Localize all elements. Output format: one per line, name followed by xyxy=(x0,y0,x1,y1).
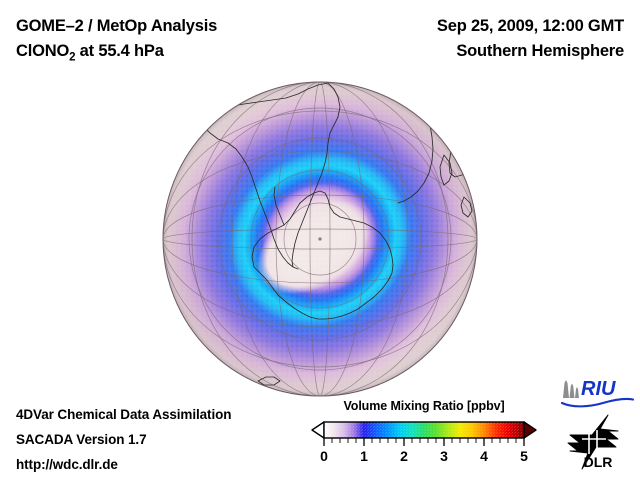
species-name: ClONO xyxy=(16,42,69,60)
colorbar-dither xyxy=(324,422,524,438)
colorbar-title: Volume Mixing Ratio [ppbv] xyxy=(308,399,540,413)
method-label: 4DVar Chemical Data Assimilation xyxy=(16,402,231,427)
map-panel xyxy=(162,81,478,397)
riu-wordmark: RIU xyxy=(581,378,616,400)
dlr-wordmark: DLR xyxy=(584,454,613,470)
species-level-title: ClONO2 at 55.4 hPa xyxy=(16,39,217,70)
globe-orthographic-projection xyxy=(162,81,478,397)
analysis-title: GOME–2 / MetOp Analysis xyxy=(16,14,217,39)
colorbar: Volume Mixing Ratio [ppbv] xyxy=(308,399,540,471)
colorbar-tick-4: 4 xyxy=(480,448,488,464)
timestamp: Sep 25, 2009, 12:00 GMT xyxy=(437,14,624,39)
colorbar-tick-0: 0 xyxy=(320,448,328,464)
colorbar-tick-3: 3 xyxy=(440,448,448,464)
pressure-level: at 55.4 hPa xyxy=(75,42,163,60)
riu-towers-icon xyxy=(563,380,579,398)
colorbar-tick-1: 1 xyxy=(360,448,368,464)
colorbar-tick-2: 2 xyxy=(400,448,408,464)
riu-logo: RIU xyxy=(559,374,635,408)
riu-wave-icon xyxy=(562,399,633,406)
south-pole-marker xyxy=(318,237,321,240)
riu-logo-svg: RIU xyxy=(559,374,635,408)
colorbar-tick-5: 5 xyxy=(520,448,528,464)
footer-left: 4DVar Chemical Data Assimilation SACADA … xyxy=(16,402,231,477)
colorbar-minor-ticks xyxy=(332,438,516,443)
dlr-logo: DLR xyxy=(562,413,636,471)
website-link[interactable]: http://wdc.dlr.de xyxy=(16,452,231,477)
hemisphere-label: Southern Hemisphere xyxy=(437,39,624,64)
dlr-logo-svg: DLR xyxy=(562,413,636,471)
colorbar-tick-labels: 0 1 2 3 4 5 xyxy=(320,448,528,464)
header-left: GOME–2 / MetOp Analysis ClONO2 at 55.4 h… xyxy=(16,14,217,70)
colorbar-over-arrow xyxy=(524,422,536,438)
colorbar-svg: 0 1 2 3 4 5 xyxy=(308,417,540,469)
colorbar-major-ticks xyxy=(324,438,524,446)
header-right: Sep 25, 2009, 12:00 GMT Southern Hemisph… xyxy=(437,14,624,64)
version-label: SACADA Version 1.7 xyxy=(16,427,231,452)
colorbar-under-arrow xyxy=(312,422,324,438)
